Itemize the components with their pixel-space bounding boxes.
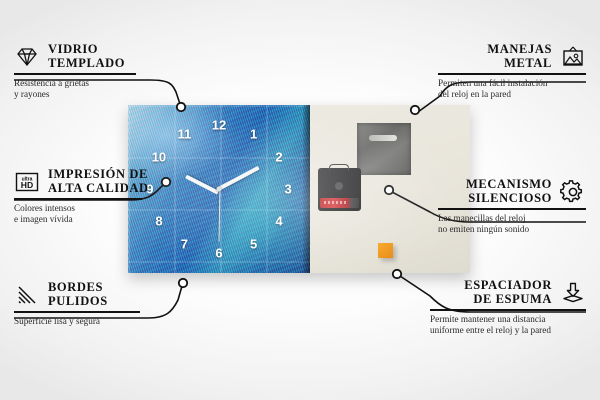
callout-title-line-1: BORDES	[48, 281, 108, 295]
clock-numeral-10: 10	[152, 151, 166, 164]
clock-face: 12 1 2 3 4 5 6 7 8 9 10 11	[128, 105, 310, 273]
wire-endpoint-bordes	[179, 279, 187, 287]
clock-numeral-11: 11	[178, 127, 192, 140]
callout-espaciador-espuma[interactable]: ESPACIADOR DE ESPUMA Permite mantener un…	[430, 279, 586, 336]
callout-subtitle-line-1: Superficie lisa y segura	[14, 316, 140, 327]
svg-text:HD: HD	[21, 180, 33, 190]
callout-manejas-metal[interactable]: MANEJAS METAL Permiten una fácil instala…	[438, 43, 586, 100]
picture-frame-hanger-icon	[560, 45, 586, 69]
callout-mecanismo-silencioso[interactable]: MECANISMO SILENCIOSO Las manecillas del …	[438, 178, 586, 235]
callout-title-line-2: TEMPLADO	[48, 57, 125, 71]
arrow-down-layers-icon	[560, 281, 586, 305]
mechanism-shaft	[335, 182, 343, 190]
callout-title-line-2: METAL	[504, 57, 552, 71]
callout-rule	[14, 311, 140, 313]
callout-impresion-alta-calidad[interactable]: ultra HD IMPRESIÓN DE ALTA CALIDAD Color…	[14, 168, 142, 225]
callout-subtitle-line-2: no emiten ningún sonido	[438, 224, 586, 235]
ultra-hd-icon: ultra HD	[14, 170, 40, 194]
mechanism-lug	[329, 164, 349, 171]
gear-icon	[560, 180, 586, 204]
foam-spacer	[378, 243, 393, 258]
clock-minute-hand	[217, 166, 259, 191]
callout-subtitle-line-2: del reloj en la pared	[438, 89, 586, 100]
clock-numeral-5: 5	[250, 238, 257, 251]
clock-hand-hub	[217, 187, 222, 192]
callout-title-line-2: ALTA CALIDAD	[48, 182, 149, 196]
clock-numeral-7: 7	[181, 238, 188, 251]
clock-numeral-1: 1	[250, 127, 257, 140]
clock-numeral-3: 3	[285, 183, 292, 196]
clock-numeral-8: 8	[155, 214, 162, 227]
clock-numeral-4: 4	[275, 214, 282, 227]
polished-edges-icon	[14, 283, 40, 307]
hanger-slot	[369, 135, 397, 141]
clock-numeral-6: 6	[215, 246, 222, 259]
clock-second-hand	[218, 190, 220, 242]
callout-rule	[438, 73, 586, 75]
callout-rule	[438, 208, 586, 210]
callout-title-line-1: MECANISMO	[466, 178, 552, 192]
callout-title-line-1: VIDRIO	[48, 43, 125, 57]
callout-title-line-1: IMPRESIÓN DE	[48, 168, 149, 182]
clock-numeral-2: 2	[275, 151, 282, 164]
callout-bordes-pulidos[interactable]: BORDES PULIDOS Superficie lisa y segura	[14, 281, 140, 327]
clock-mechanism	[318, 168, 361, 211]
diamond-icon	[14, 45, 40, 69]
infographic-canvas: 12 1 2 3 4 5 6 7 8 9 10 11	[0, 0, 600, 400]
callout-title-line-1: MANEJAS	[487, 43, 552, 57]
product-photo: 12 1 2 3 4 5 6 7 8 9 10 11	[128, 105, 470, 273]
callout-subtitle-line-2: e imagen vívida	[14, 214, 142, 225]
callout-subtitle-line-1: Permite mantener una distancia	[430, 314, 586, 325]
battery	[320, 198, 359, 208]
callout-title-line-2: PULIDOS	[48, 295, 108, 309]
callout-title-line-1: ESPACIADOR	[464, 279, 552, 293]
callout-subtitle-line-1: Colores intensos	[14, 203, 142, 214]
metal-hanger-plate	[357, 123, 411, 175]
callout-subtitle-line-2: y rayones	[14, 89, 136, 100]
clock-numeral-12: 12	[212, 119, 226, 132]
callout-subtitle-line-1: Permiten una fácil instalación	[438, 78, 586, 89]
callout-subtitle-line-1: Las manecillas del reloj	[438, 213, 586, 224]
callout-rule	[430, 309, 586, 311]
callout-subtitle-line-1: Resistencia a grietas	[14, 78, 136, 89]
callout-vidrio-templado[interactable]: VIDRIO TEMPLADO Resistencia a grietas y …	[14, 43, 136, 100]
callout-title-line-2: DE ESPUMA	[473, 293, 552, 307]
callout-rule	[14, 73, 136, 75]
callout-rule	[14, 198, 142, 200]
callout-title-line-2: SILENCIOSO	[468, 192, 552, 206]
clock-front-panel: 12 1 2 3 4 5 6 7 8 9 10 11	[128, 105, 310, 273]
clock-hour-hand	[185, 175, 219, 195]
callout-subtitle-line-2: uniforme entre el reloj y la pared	[430, 325, 586, 336]
